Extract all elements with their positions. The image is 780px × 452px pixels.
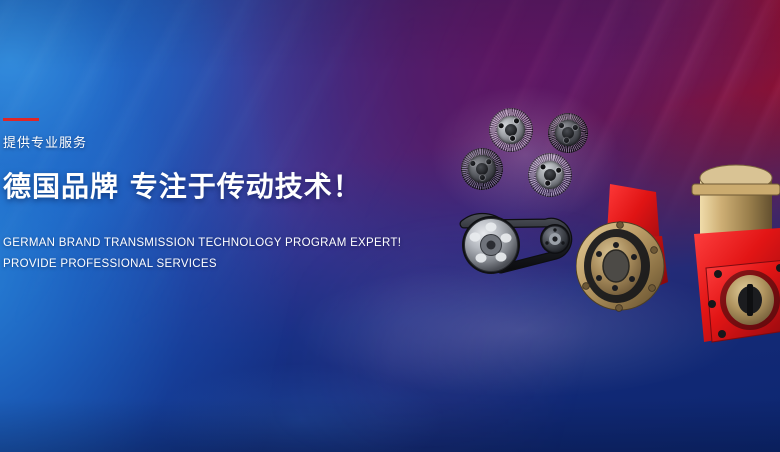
belt-small-pulley-bore: [552, 236, 557, 241]
gearbox-left-bore: [603, 250, 629, 282]
headline-text: 德国品牌 专注于传动技术！: [3, 172, 433, 201]
promo-banner: 提供专业服务 德国品牌 专注于传动技术！ GERMAN BRAND TRANSM…: [0, 0, 780, 452]
belt-large-pulley-bore: [487, 241, 496, 250]
subline-primary: GERMAN BRAND TRANSMISSION TECHNOLOGY PRO…: [3, 232, 416, 253]
banner-copy: 提供专业服务 德国品牌 专注于传动技术！ GERMAN BRAND TRANSM…: [3, 118, 433, 274]
gearbox-right-keyway: [747, 284, 753, 316]
accent-rule: [3, 118, 39, 121]
subline-secondary: PROVIDE PROFESSIONAL SERVICES: [3, 253, 416, 274]
right-angle-gearbox-right: [682, 156, 780, 346]
eyebrow-text: 提供专业服务: [3, 137, 433, 150]
gearbox-right-clamp-collar: [692, 184, 780, 195]
gearbox-right-svg: [682, 156, 780, 346]
